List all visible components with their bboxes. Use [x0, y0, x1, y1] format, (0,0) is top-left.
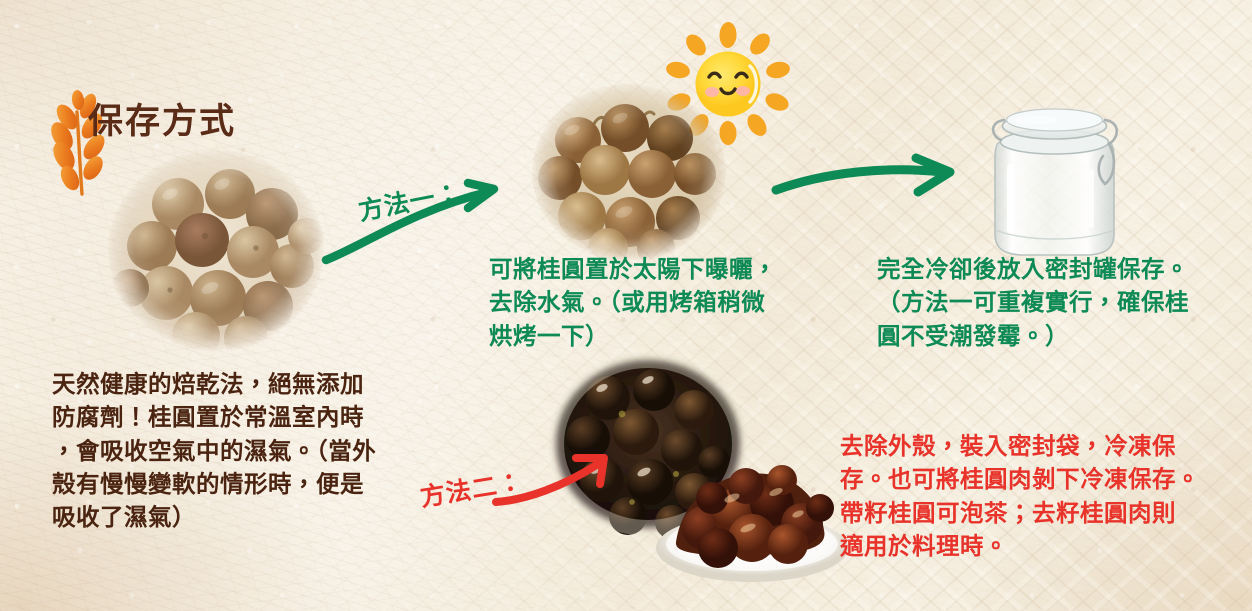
intro-paragraph: 天然健康的焙乾法，絕無添加 防腐劑！桂圓置於常溫室內時 ，會吸收空氣中的濕氣。（… — [52, 368, 432, 535]
arrow-two-green-right — [770, 150, 962, 222]
sun-dried-longan-photo — [530, 82, 728, 262]
page-title: 保存方式 — [88, 104, 236, 139]
step-sun-dry-text: 可將桂圓置於太陽下曝曬， 去除水氣。（或用烤箱稍微 烘烤一下） — [489, 253, 819, 353]
step-store-jar-text: 完全冷卻後放入密封罐保存。 （方法一可重複實行，確保桂 圓不受潮發霉。） — [877, 253, 1217, 353]
infographic-canvas: 保存方式 天然健康的焙乾法，絕無添加 防腐劑！桂圓置於常溫室內時 ，會吸收空氣中… — [0, 0, 1252, 611]
raw-longan-pile-photo — [106, 148, 326, 352]
step-freeze-text: 去除外殼，裝入密封袋，冷凍保 存。也可將桂圓肉剝下冷凍保存。 帶籽桂圓可泡茶；去… — [840, 430, 1220, 563]
glass-jar-icon — [977, 80, 1132, 258]
